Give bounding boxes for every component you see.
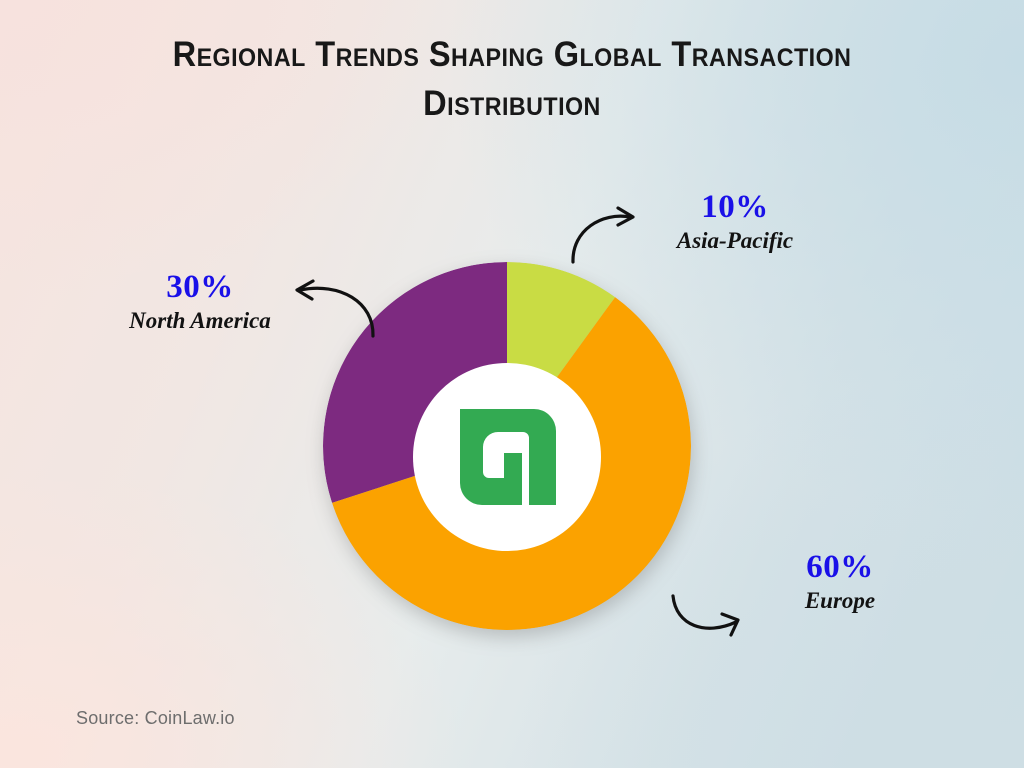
europe-percent: 60% (740, 550, 940, 585)
source-attribution: Source: CoinLaw.io (76, 708, 235, 729)
coinlaw-a-logo-icon (456, 405, 560, 509)
arrow-to-europe-icon (668, 588, 778, 650)
arrow-to-north-america-icon (282, 272, 392, 344)
arrow-to-asia-pacific-icon (556, 200, 666, 270)
page-title: Regional Trends Shaping Global Transacti… (36, 30, 988, 128)
